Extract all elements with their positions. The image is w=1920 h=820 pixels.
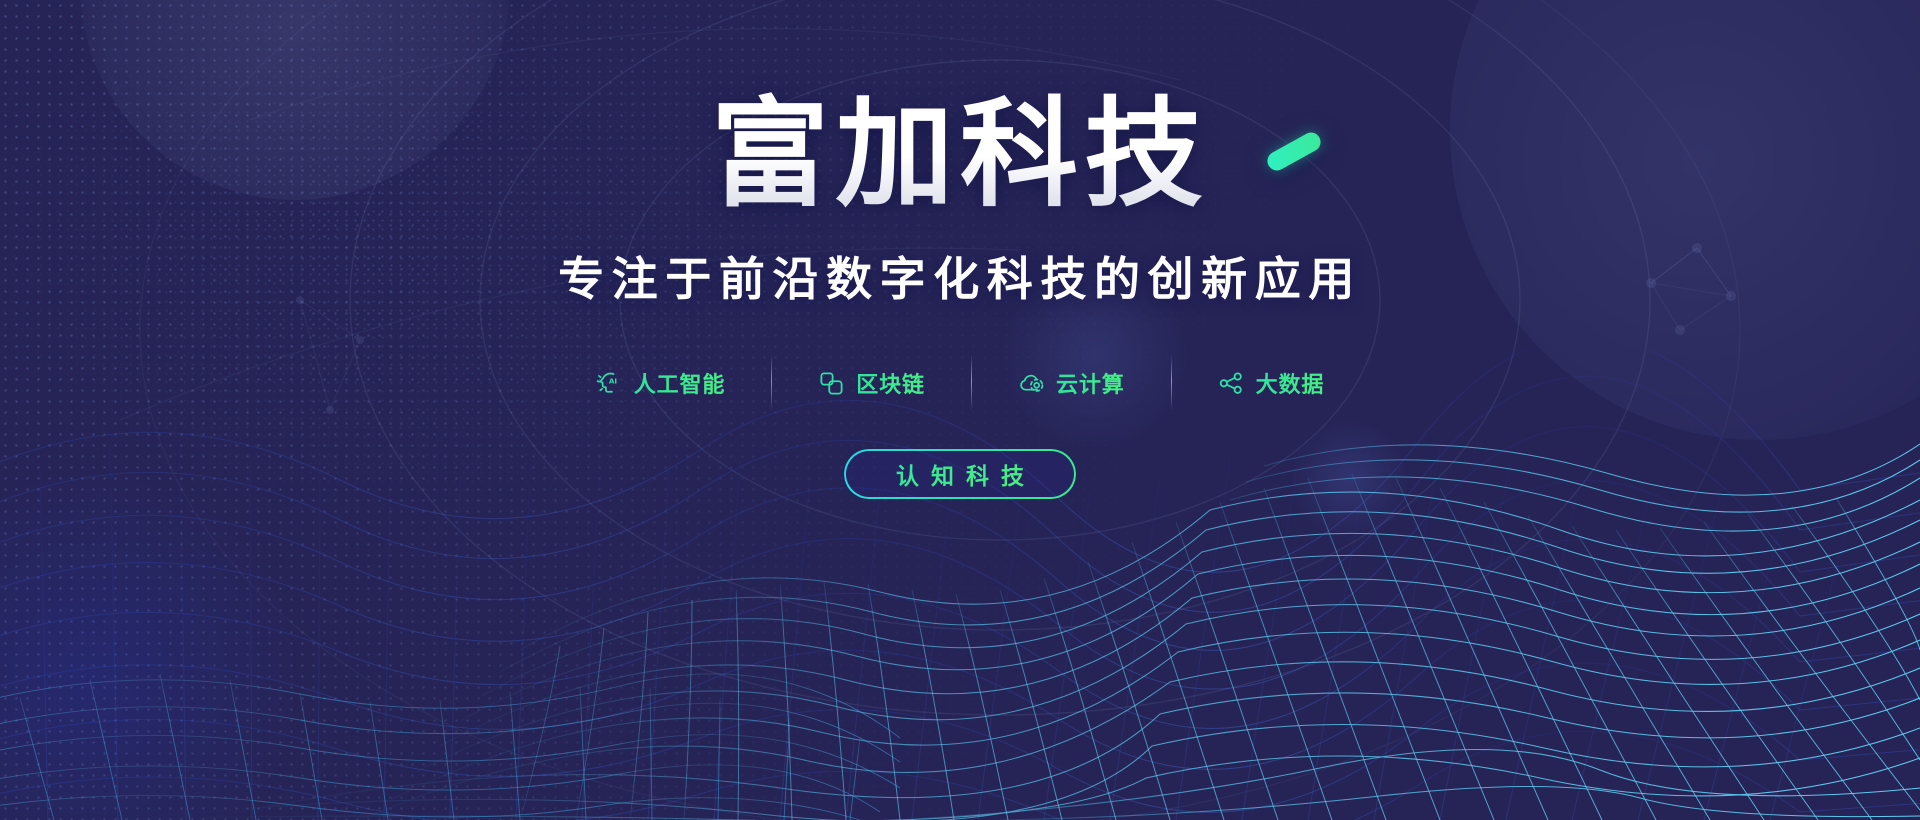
- hero-tagline: 专注于前沿数字化科技的创新应用: [558, 243, 1362, 309]
- hero-banner: 富加科技 专注于前沿数字化科技的创新应用 AI 人工智能: [0, 0, 1920, 820]
- feature-tag-ai[interactable]: AI 人工智能: [550, 367, 772, 399]
- share-nodes-icon: [1218, 370, 1245, 397]
- feature-tag-list: AI 人工智能 区块链: [550, 355, 1370, 411]
- feature-tag-label: 人工智能: [634, 367, 726, 399]
- svg-text:AI: AI: [609, 376, 618, 385]
- brand-logo: 富加科技: [711, 92, 1209, 217]
- feature-tag-cloud[interactable]: 云计算: [972, 367, 1171, 399]
- cta-pill-label: 认知科技: [884, 457, 1036, 491]
- feature-tag-label: 区块链: [856, 367, 925, 399]
- cloud-gear-icon: [1018, 370, 1045, 397]
- logo-accent-stroke: [1264, 129, 1324, 174]
- feature-tag-label: 大数据: [1256, 367, 1325, 399]
- feature-tag-bigdata[interactable]: 大数据: [1172, 367, 1371, 399]
- feature-tag-label: 云计算: [1056, 367, 1125, 399]
- hero-content: 富加科技 专注于前沿数字化科技的创新应用 AI 人工智能: [0, 0, 1920, 820]
- ai-head-icon: AI: [596, 370, 623, 397]
- blockchain-blocks-icon: [818, 370, 845, 397]
- feature-tag-blockchain[interactable]: 区块链: [772, 367, 971, 399]
- cta-pill-button[interactable]: 认知科技: [844, 449, 1076, 499]
- brand-logo-text: 富加科技: [711, 85, 1209, 223]
